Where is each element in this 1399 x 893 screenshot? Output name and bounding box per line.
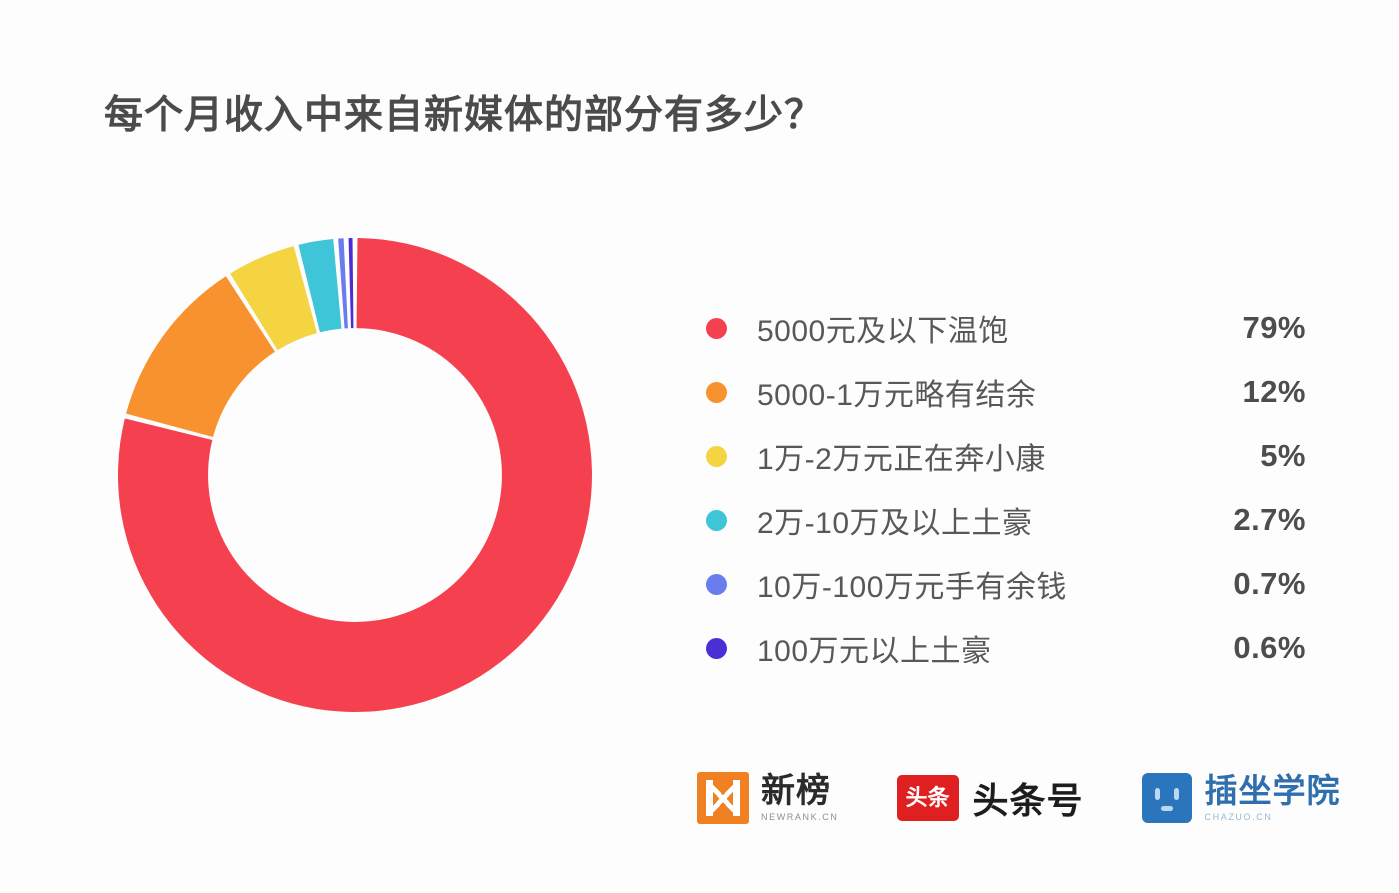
legend-item-value: 5% [1186, 438, 1306, 474]
chazuo-mouth-icon [1161, 806, 1173, 811]
donut-segment-group [118, 238, 592, 712]
legend-color-swatch-icon [706, 382, 727, 403]
legend-item[interactable]: 2万-10万及以上土豪 2.7% [706, 488, 1306, 552]
slide-canvas: 每个月收入中来自新媒体的部分有多少？ 5000元及以下温饱 79% 5000-1… [0, 0, 1399, 893]
chart-legend: 5000元及以下温饱 79% 5000-1万元略有结余 12% 1万-2万元正在… [706, 296, 1306, 680]
legend-item-value: 2.7% [1186, 502, 1306, 538]
legend-item-label: 5000-1万元略有结余 [757, 370, 1186, 414]
page-title: 每个月收入中来自新媒体的部分有多少？ [104, 84, 824, 140]
legend-color-swatch-icon [706, 446, 727, 467]
footer-logo-row: 新榜 NEWRANK.CN 头条 头条号 插坐学院 CHAZUO.CN [697, 772, 1341, 824]
logo-chazuo[interactable]: 插坐学院 CHAZUO.CN [1142, 773, 1341, 823]
legend-item-label: 2万-10万及以上土豪 [757, 498, 1186, 542]
chazuo-mark-icon [1142, 773, 1192, 823]
toutiao-mark-icon: 头条 [897, 775, 959, 821]
newrank-mark-icon [697, 772, 749, 824]
legend-item-value: 12% [1186, 374, 1306, 410]
logo-name: 新榜 [761, 774, 839, 810]
logo-subtitle: CHAZUO.CN [1205, 812, 1341, 822]
legend-item-value: 0.6% [1186, 630, 1306, 666]
legend-item-label: 1万-2万元正在奔小康 [757, 434, 1186, 478]
legend-item[interactable]: 1万-2万元正在奔小康 5% [706, 424, 1306, 488]
legend-item-value: 0.7% [1186, 566, 1306, 602]
legend-item[interactable]: 5000-1万元略有结余 12% [706, 360, 1306, 424]
donut-segment[interactable] [349, 238, 354, 328]
chazuo-eye-right-icon [1174, 788, 1179, 800]
legend-item[interactable]: 100万元以上土豪 0.6% [706, 616, 1306, 680]
legend-color-swatch-icon [706, 318, 727, 339]
donut-chart [118, 238, 592, 712]
chazuo-eye-left-icon [1155, 788, 1160, 800]
logo-name: 头条号 [973, 772, 1084, 824]
logo-newrank[interactable]: 新榜 NEWRANK.CN [697, 772, 839, 824]
legend-color-swatch-icon [706, 638, 727, 659]
logo-name: 插坐学院 [1205, 774, 1341, 809]
legend-item-label: 5000元及以下温饱 [757, 306, 1186, 350]
logo-toutiaohao[interactable]: 头条 头条号 [897, 772, 1084, 824]
logo-subtitle: NEWRANK.CN [761, 812, 839, 822]
legend-item[interactable]: 10万-100万元手有余钱 0.7% [706, 552, 1306, 616]
legend-item[interactable]: 5000元及以下温饱 79% [706, 296, 1306, 360]
legend-color-swatch-icon [706, 574, 727, 595]
legend-color-swatch-icon [706, 510, 727, 531]
legend-item-label: 10万-100万元手有余钱 [757, 562, 1186, 606]
legend-item-value: 79% [1186, 310, 1306, 346]
legend-item-label: 100万元以上土豪 [757, 626, 1186, 670]
donut-chart-svg [118, 238, 592, 712]
